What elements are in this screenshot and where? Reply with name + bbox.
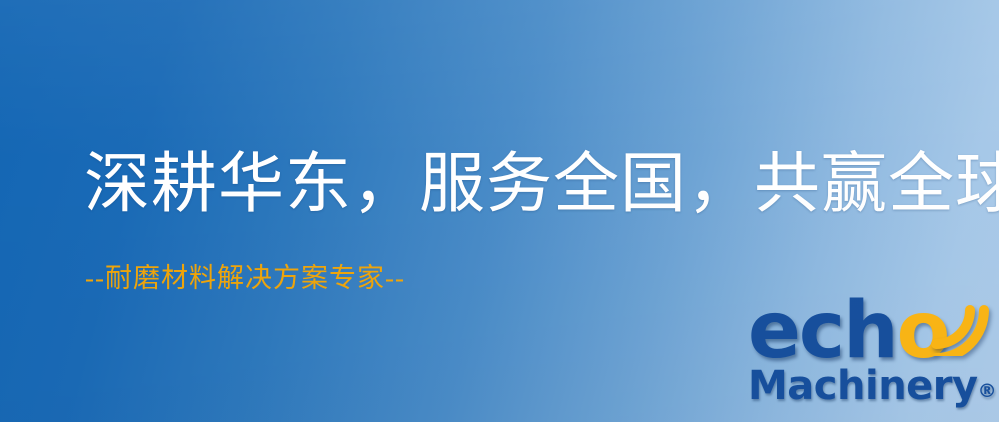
logo-tagline-text: Machinery xyxy=(748,363,978,409)
logo-brand-text: echo xyxy=(748,292,948,370)
registered-trademark-icon: ® xyxy=(978,380,997,402)
banner-subtitle: --耐磨材料解决方案专家-- xyxy=(85,265,405,292)
logo-wordmark: echo xyxy=(744,296,996,368)
promo-banner: 深耕华东，服务全国，共赢全球 --耐磨材料解决方案专家-- echo Machi… xyxy=(0,0,999,422)
echo-machinery-logo: echo Machinery® xyxy=(744,296,996,420)
banner-headline: 深耕华东，服务全国，共赢全球 xyxy=(84,152,999,218)
signal-arcs-icon xyxy=(920,294,990,356)
logo-tagline: Machinery® xyxy=(748,366,997,406)
